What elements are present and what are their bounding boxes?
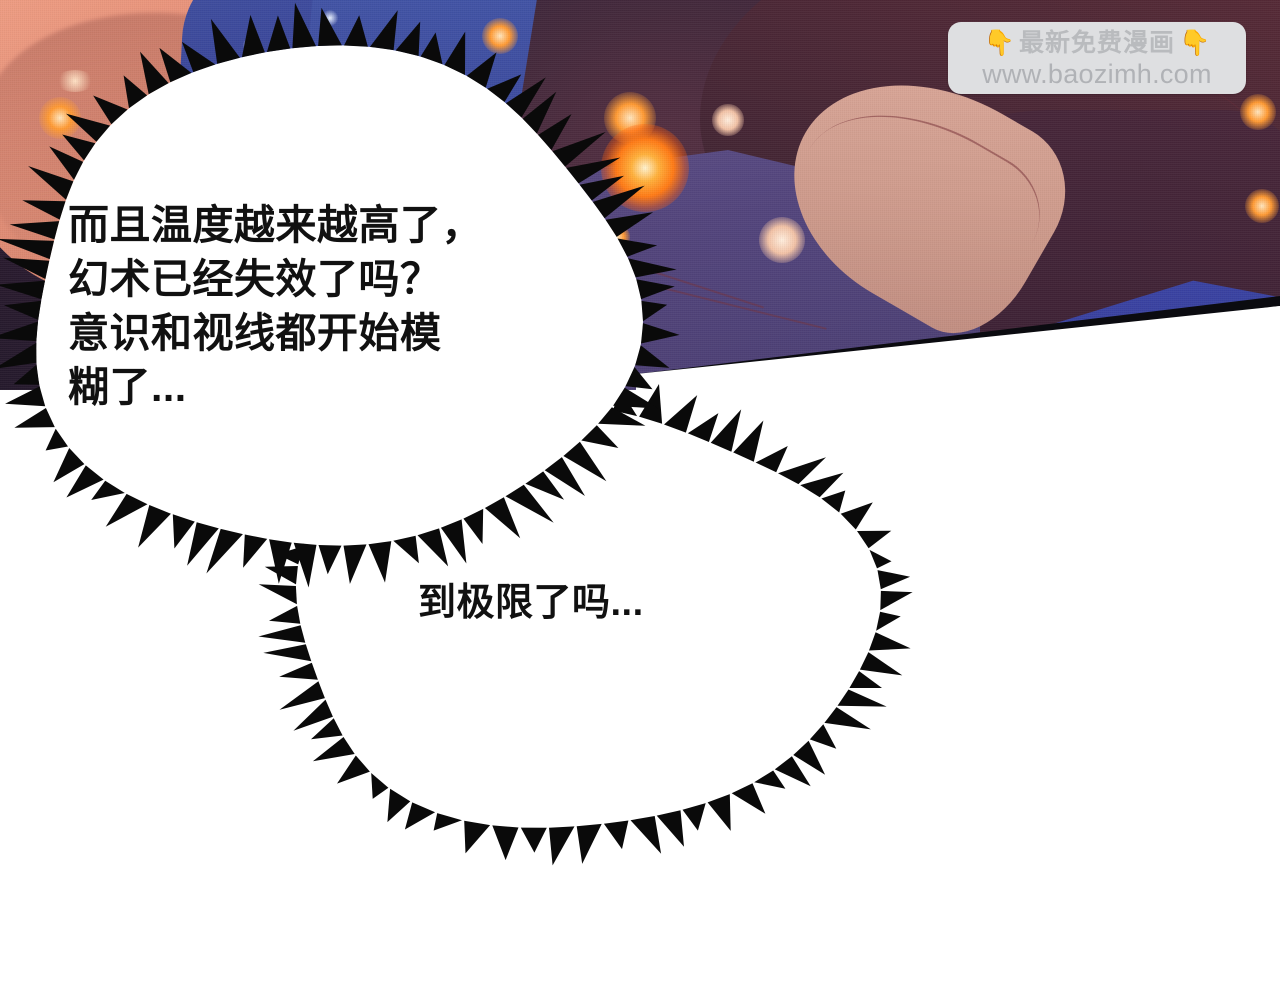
bubble-spike <box>641 301 667 321</box>
bubble-spike <box>641 323 680 343</box>
speech-bubble-primary-text: 而且温度越来越高了，幻术已经失效了吗？意识和视线都开始模糊了... <box>68 198 588 414</box>
bubble-spike <box>0 322 38 342</box>
bubble-spike <box>657 810 684 846</box>
bubble-text-line: 而且温度越来越高了， <box>68 198 588 252</box>
bubble-spike <box>635 345 669 368</box>
bubble-spike <box>344 15 368 47</box>
bubble-spike <box>28 166 73 200</box>
bubble-spike <box>628 258 677 277</box>
bubble-spike <box>292 3 316 49</box>
pointing-down-hand-icon-right: 👇 <box>1179 28 1210 58</box>
bubble-spike <box>876 612 901 631</box>
bubble-spike <box>318 8 342 46</box>
bubble-spike <box>3 258 49 279</box>
speech-bubble-secondary-text: 到极限了吗... <box>418 578 758 628</box>
site-watermark[interactable]: 👇 最新免费漫画 👇 www.baozimh.com <box>948 22 1246 94</box>
pointing-down-hand-icon-left: 👇 <box>984 28 1015 58</box>
speech-bubble-layer <box>0 0 1280 1000</box>
bubble-text-line: 糊了... <box>68 360 588 414</box>
bubble-text-line: 幻术已经失效了吗？ <box>68 252 588 306</box>
bubble-spike <box>243 535 267 568</box>
bubble-spike <box>396 22 421 56</box>
bubble-spike <box>631 816 662 854</box>
bubble-spike <box>521 828 547 853</box>
bubble-spike <box>604 821 629 850</box>
bubble-spike <box>492 825 518 860</box>
bubble-spike <box>259 584 297 604</box>
bubble-spike <box>242 15 265 57</box>
bubble-spike <box>258 625 305 642</box>
bubble-spike <box>5 386 45 406</box>
bubble-spike <box>0 343 36 369</box>
comic-page: 而且温度越来越高了，幻术已经失效了吗？意识和视线都开始模糊了... 到极限了吗.… <box>0 0 1280 1000</box>
bubble-spike <box>10 221 60 239</box>
watermark-chinese-label: 最新免费漫画 <box>1019 28 1175 58</box>
bubble-spike <box>4 301 41 320</box>
watermark-top-row: 👇 最新免费漫画 👇 <box>984 27 1210 59</box>
bubble-spike <box>0 281 45 300</box>
bubble-spike <box>636 279 674 299</box>
bubble-spike <box>267 15 290 52</box>
bubble-spike <box>549 826 575 865</box>
bubble-spike <box>370 10 398 50</box>
bubble-spike <box>577 824 602 864</box>
bubble-text-line: 到极限了吗... <box>418 578 758 628</box>
bubble-spike <box>0 239 54 259</box>
bubble-spike <box>279 663 318 680</box>
bubble-spike <box>878 570 911 589</box>
bubble-spike <box>22 200 65 219</box>
bubble-spike <box>880 591 912 610</box>
bubble-spike <box>211 19 240 64</box>
bubble-spike <box>263 644 311 661</box>
bubble-spike <box>869 632 911 650</box>
bubble-spike <box>14 365 40 385</box>
watermark-url: www.baozimh.com <box>982 59 1212 89</box>
bubble-spike <box>464 821 490 854</box>
bubble-spike <box>280 681 325 710</box>
bubble-spike <box>269 606 300 624</box>
bubble-text-line: 意识和视线都开始模 <box>68 306 588 360</box>
